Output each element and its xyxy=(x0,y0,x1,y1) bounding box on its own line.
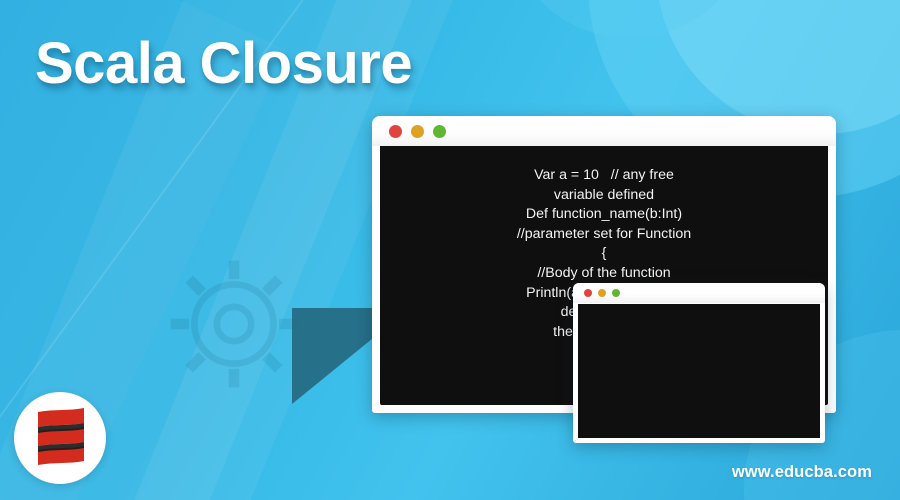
scala-logo-icon xyxy=(36,408,86,468)
page-title: Scala Closure xyxy=(35,30,412,97)
maximize-icon[interactable] xyxy=(612,289,620,297)
output-text xyxy=(578,304,820,310)
poster-canvas: Scala Closure Var a = 10 // any free var… xyxy=(0,0,900,500)
gear-icon xyxy=(168,258,300,390)
scala-logo xyxy=(14,392,106,484)
minimize-icon[interactable] xyxy=(411,125,424,138)
minimize-icon[interactable] xyxy=(598,289,606,297)
background-arc-medium xyxy=(656,0,900,134)
traffic-lights xyxy=(584,289,620,297)
close-icon[interactable] xyxy=(584,289,592,297)
output-window-titlebar[interactable] xyxy=(573,283,825,303)
footer-url[interactable]: www.educba.com xyxy=(732,463,872,482)
maximize-icon[interactable] xyxy=(433,125,446,138)
code-window-titlebar[interactable] xyxy=(372,116,836,146)
traffic-lights xyxy=(389,125,446,138)
output-window[interactable] xyxy=(573,283,825,443)
background-arc-small xyxy=(504,0,754,38)
output-terminal-body xyxy=(578,304,820,438)
close-icon[interactable] xyxy=(389,125,402,138)
